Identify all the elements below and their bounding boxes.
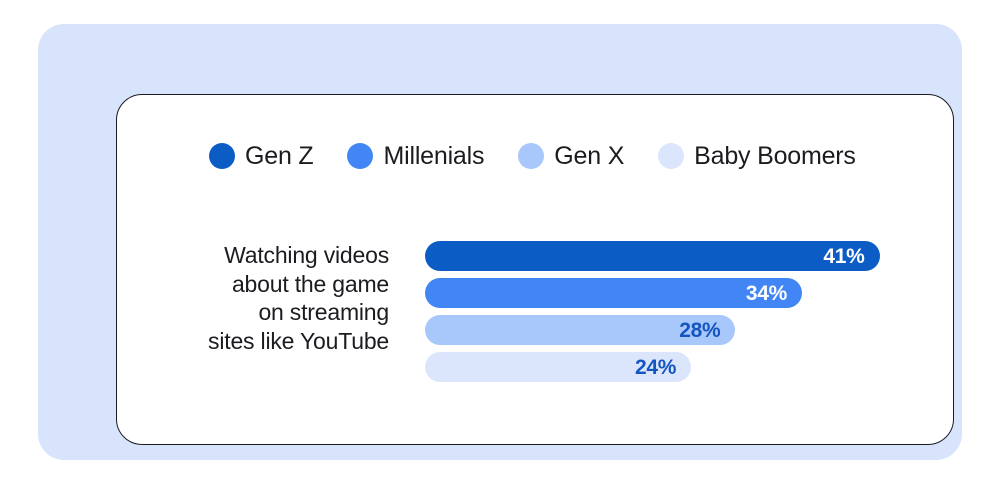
- legend-dot-millenials-icon: [347, 143, 373, 169]
- bar-baby-boomers[interactable]: 24%: [425, 352, 691, 382]
- chart-card: Gen Z Millenials Gen X Baby Boomers Watc…: [116, 94, 954, 445]
- legend-item-millenials[interactable]: Millenials: [347, 143, 484, 169]
- bar-row: 28%: [425, 315, 935, 345]
- bar-value-gen-z: 41%: [823, 246, 864, 267]
- legend-label-gen-x: Gen X: [554, 144, 624, 169]
- legend-label-baby-boomers: Baby Boomers: [694, 144, 856, 169]
- bar-millenials[interactable]: 34%: [425, 278, 802, 308]
- chart-plot-area: Watching videos about the game on stream…: [117, 240, 955, 382]
- outer-panel: Gen Z Millenials Gen X Baby Boomers Watc…: [38, 24, 962, 460]
- legend-item-gen-x[interactable]: Gen X: [518, 143, 624, 169]
- category-label-line: sites like YouTube: [117, 327, 389, 356]
- legend-item-gen-z[interactable]: Gen Z: [209, 143, 313, 169]
- bar-row: 34%: [425, 278, 935, 308]
- bar-row: 24%: [425, 352, 935, 382]
- bar-gen-z[interactable]: 41%: [425, 241, 880, 271]
- category-group: Watching videos about the game on stream…: [117, 240, 955, 382]
- bar-value-gen-x: 28%: [679, 320, 720, 341]
- category-label-line: Watching videos: [117, 241, 389, 270]
- bar-value-baby-boomers: 24%: [635, 357, 676, 378]
- chart-legend: Gen Z Millenials Gen X Baby Boomers: [209, 143, 856, 169]
- legend-item-baby-boomers[interactable]: Baby Boomers: [658, 143, 856, 169]
- legend-dot-baby-boomers-icon: [658, 143, 684, 169]
- category-label-line: on streaming: [117, 298, 389, 327]
- legend-dot-gen-z-icon: [209, 143, 235, 169]
- bars-area: 41% 34% 28% 24: [425, 240, 935, 382]
- category-label: Watching videos about the game on stream…: [117, 240, 389, 355]
- legend-label-gen-z: Gen Z: [245, 144, 313, 169]
- category-label-line: about the game: [117, 270, 389, 299]
- legend-dot-gen-x-icon: [518, 143, 544, 169]
- bar-row: 41%: [425, 241, 935, 271]
- bar-gen-x[interactable]: 28%: [425, 315, 735, 345]
- legend-label-millenials: Millenials: [383, 144, 484, 169]
- bar-value-millenials: 34%: [746, 283, 787, 304]
